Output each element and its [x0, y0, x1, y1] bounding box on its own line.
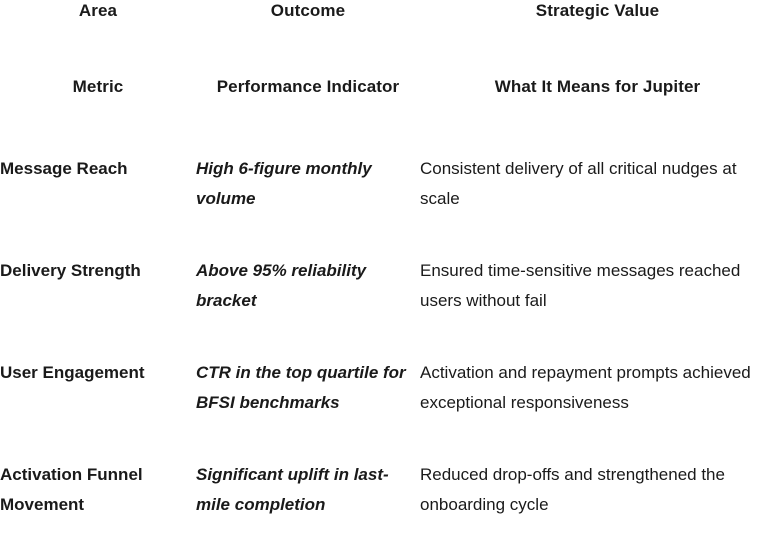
group-header-row: Area Outcome Strategic Value — [0, 0, 775, 76]
column-header-what-it-means: What It Means for Jupiter — [420, 76, 775, 154]
table-row: Activation Funnel Movement Significant u… — [0, 460, 775, 525]
row-meaning: Ensured time-sensitive messages reached … — [420, 256, 775, 358]
group-header-area: Area — [0, 0, 196, 76]
row-metric: Message Reach — [0, 154, 196, 256]
row-indicator: CTR in the top quartile for BFSI benchma… — [196, 358, 420, 460]
table-row: Delivery Strength Above 95% reliability … — [0, 256, 775, 358]
column-header-metric: Metric — [0, 76, 196, 154]
row-indicator: High 6-figure monthly volume — [196, 154, 420, 256]
row-metric: Activation Funnel Movement — [0, 460, 196, 525]
table-body: Message Reach High 6-figure monthly volu… — [0, 154, 775, 525]
table-row: Message Reach High 6-figure monthly volu… — [0, 154, 775, 256]
column-header-row: Metric Performance Indicator What It Mea… — [0, 76, 775, 154]
row-meaning: Reduced drop-offs and strengthened the o… — [420, 460, 775, 525]
column-header-performance-indicator: Performance Indicator — [196, 76, 420, 154]
group-header-strategic-value: Strategic Value — [420, 0, 775, 76]
document-sheet: Area Outcome Strategic Value Metric Perf… — [0, 0, 775, 557]
row-indicator: Above 95% reliability bracket — [196, 256, 420, 358]
row-meaning: Activation and repayment prompts achieve… — [420, 358, 775, 460]
row-metric: Delivery Strength — [0, 256, 196, 358]
table-row: User Engagement CTR in the top quartile … — [0, 358, 775, 460]
table-head: Area Outcome Strategic Value Metric Perf… — [0, 0, 775, 154]
row-meaning: Consistent delivery of all critical nudg… — [420, 154, 775, 256]
row-indicator: Significant uplift in last-mile completi… — [196, 460, 420, 525]
group-header-outcome: Outcome — [196, 0, 420, 76]
metrics-table: Area Outcome Strategic Value Metric Perf… — [0, 0, 775, 525]
row-metric: User Engagement — [0, 358, 196, 460]
